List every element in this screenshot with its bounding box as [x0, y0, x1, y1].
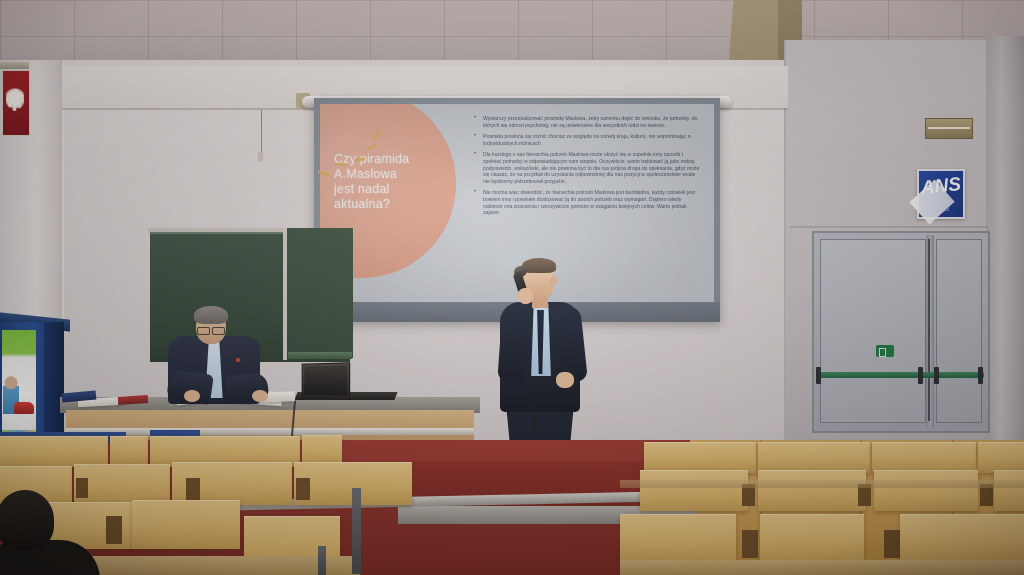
glasses-icon: [197, 327, 225, 333]
seat-divider-gap: [296, 478, 310, 500]
seated-person-hair: [194, 306, 228, 324]
seat-divider-gap: [106, 516, 122, 544]
seat-backrest[interactable]: [640, 470, 748, 511]
lecture-hall-photo: ANS KALISZ Czy piramida A.Maslowa jest n…: [0, 0, 1024, 575]
seat-backrest[interactable]: [760, 514, 864, 563]
chalkboard-divider: [283, 228, 287, 360]
chalkboard-right-panel: [285, 228, 353, 358]
emergency-exit-door[interactable]: [812, 231, 990, 433]
push-bar-bracket: [816, 367, 821, 384]
seat-divider-gap: [884, 530, 900, 558]
wall-plaque: [925, 118, 973, 139]
roller-cord-handle[interactable]: [258, 152, 263, 162]
speaker-ear: [550, 276, 557, 286]
emergency-exit-icon: [876, 345, 894, 357]
seat-backrest[interactable]: [900, 514, 1024, 563]
slide-title-line-3: jest nadal: [334, 182, 464, 197]
lectern-side-panel: [44, 322, 64, 450]
slide-title-line-4: aktualna?: [334, 197, 464, 212]
seat-backrest[interactable]: [110, 436, 148, 465]
wall-seam-right: [790, 226, 988, 228]
coat-of-arms-shelf: [0, 62, 29, 69]
slide-bullet: Piramida powinna się różnić chociaż ze w…: [472, 134, 700, 147]
seated-person-lapel-pin: [236, 358, 240, 362]
slide-bullet: Nie można więc stwierdzić, że hierarchia…: [472, 190, 700, 216]
panic-push-bar[interactable]: [818, 372, 984, 378]
door-leaf-left[interactable]: [820, 239, 926, 423]
seat-writing-surface: [620, 560, 1024, 575]
seat-backrest[interactable]: [74, 464, 170, 505]
seat-backrest[interactable]: [620, 514, 736, 563]
seat-divider-gap: [742, 530, 758, 558]
ans-logo-sign: ANS KALISZ: [917, 169, 965, 219]
slide-bullet: Wystarczy przeanalizować piramidę Maslow…: [472, 116, 700, 129]
seat-divider-gap: [186, 478, 200, 500]
ans-logo-text: ANS: [918, 175, 964, 198]
eagle-icon: [6, 85, 24, 115]
seat-backrest[interactable]: [872, 442, 976, 473]
poster-car-graphic: [14, 402, 34, 414]
chalk-tray: [288, 352, 352, 359]
slide-bullet-list: Wystarczy przeanalizować piramidę Maslow…: [472, 116, 700, 222]
audience-member-head: [0, 490, 54, 550]
door-leaf-right[interactable]: [936, 239, 982, 423]
roller-pull-cord[interactable]: [261, 110, 262, 158]
seat-backrest[interactable]: [758, 470, 866, 511]
push-bar-bracket: [934, 367, 939, 384]
laptop[interactable]: [302, 362, 351, 399]
speaker-left-arm: [497, 303, 530, 383]
seat-writing-surface: [620, 480, 1024, 488]
speaker-right-hand: [556, 372, 574, 388]
slide-bullet: Dla każdego z nas hierarchia potrzeb Mas…: [472, 152, 700, 185]
seat-backrest[interactable]: [644, 442, 756, 473]
slide-title-line-2: A.Maslowa: [334, 167, 464, 182]
plaque-engraving: [928, 127, 970, 129]
far-right-wall: [986, 36, 1024, 466]
seat-support-leg: [352, 488, 361, 574]
seat-divider-gap: [76, 478, 88, 498]
seat-backrest[interactable]: [0, 436, 108, 467]
seated-person-left-hand: [184, 390, 200, 402]
seat-backrest[interactable]: [132, 500, 240, 549]
desk-front-rail: [66, 428, 474, 435]
seat-backrest[interactable]: [758, 442, 870, 473]
door-vertical-rod: [928, 239, 930, 421]
seated-person-right-hand: [252, 390, 268, 402]
seat-backrest[interactable]: [978, 442, 1024, 473]
coat-of-arms-emblem: [2, 70, 30, 136]
seat-backrest[interactable]: [994, 470, 1024, 511]
push-bar-bracket: [978, 367, 983, 384]
ans-logo-subtext: KALISZ: [919, 207, 963, 212]
seat-backrest[interactable]: [874, 470, 978, 511]
lectern-poster: [2, 330, 36, 436]
seat-support-leg: [318, 546, 326, 575]
push-bar-bracket: [918, 367, 923, 384]
laptop-screen: [304, 365, 347, 395]
